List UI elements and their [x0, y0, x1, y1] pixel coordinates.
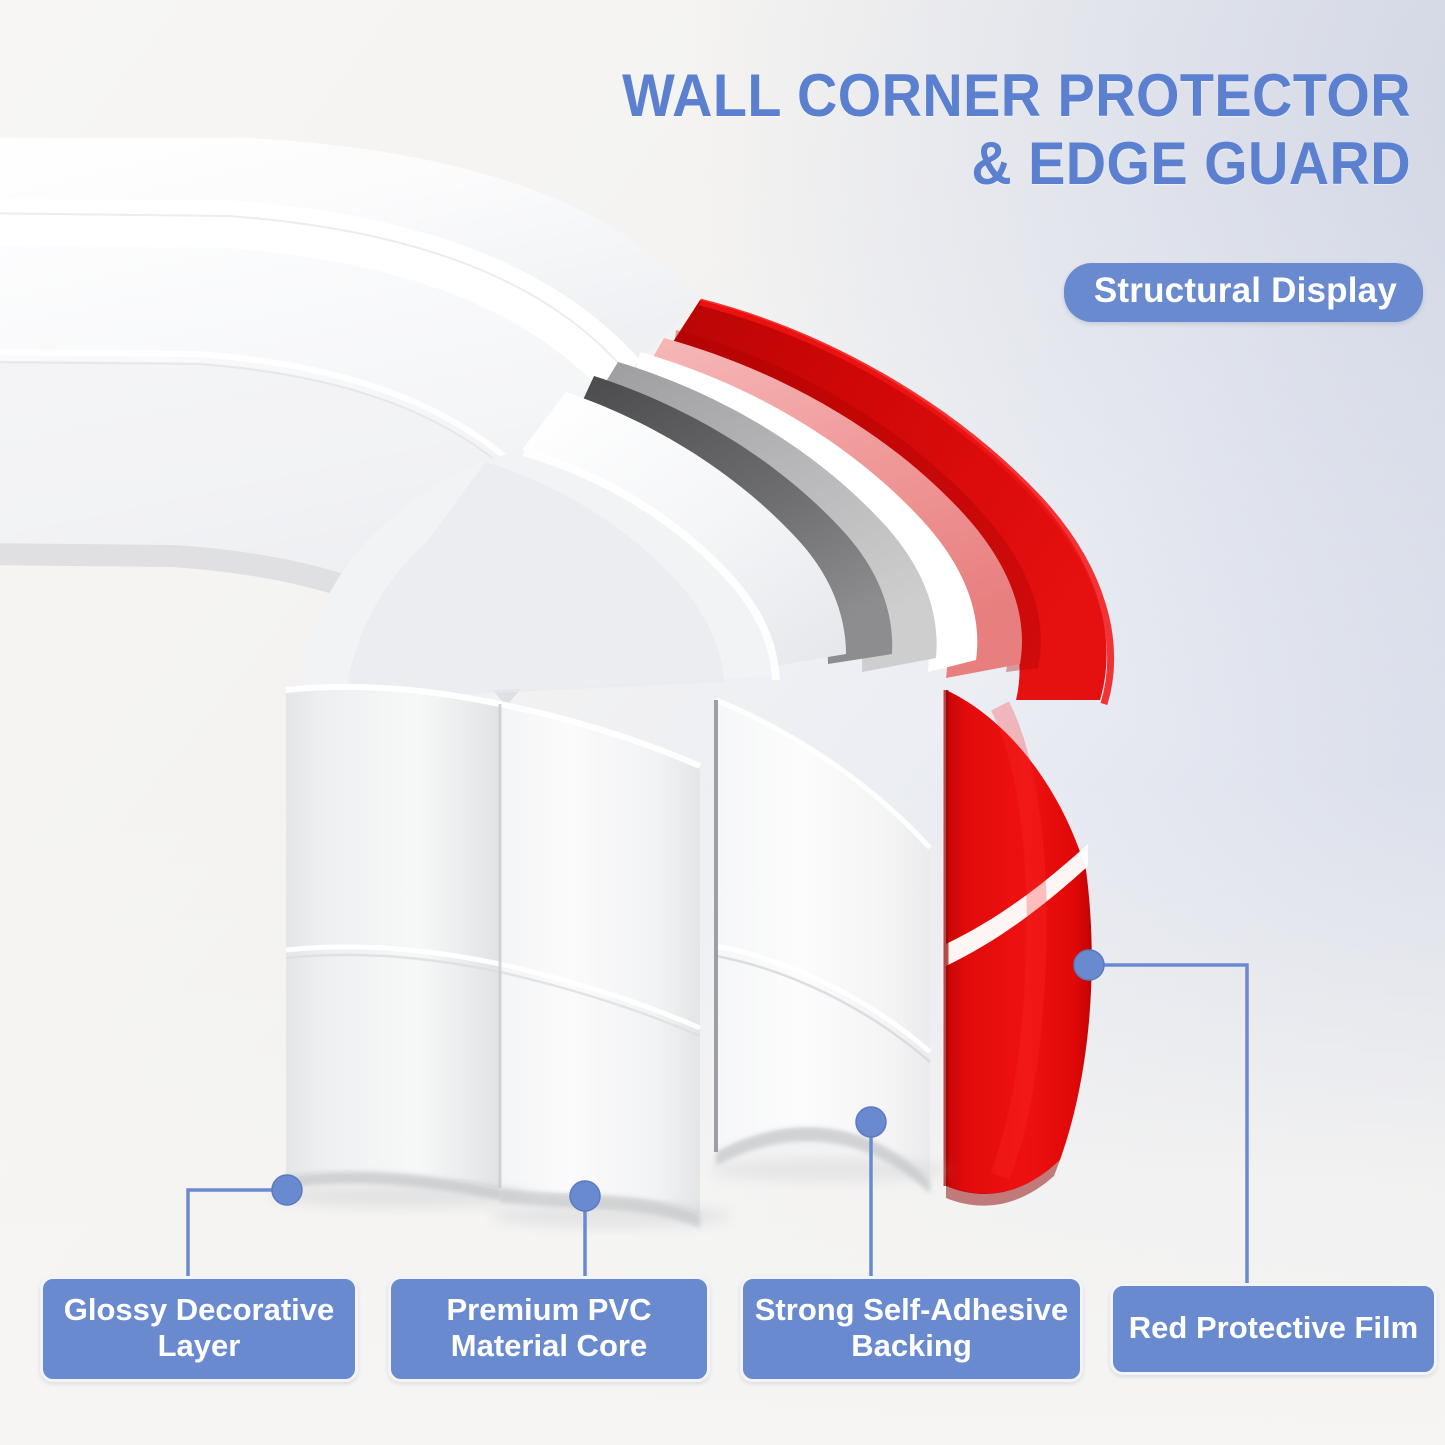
callout-label-line-1: Red Protective Film — [1129, 1310, 1418, 1346]
callout-label-line-2: Backing — [755, 1328, 1069, 1364]
callout-label-line-2: Layer — [64, 1328, 335, 1364]
callout-label-glossy-decorative-layer: Glossy Decorative Layer — [40, 1276, 358, 1382]
callout-label-line-2: Material Core — [446, 1328, 651, 1364]
callout-label-line-1: Premium PVC — [446, 1292, 651, 1328]
callout-label-line-1: Strong Self-Adhesive — [755, 1292, 1069, 1328]
callout-label-group: Glossy Decorative Layer Premium PVC Mate… — [0, 0, 1445, 1445]
callout-label-premium-pvc-material-core: Premium PVC Material Core — [388, 1276, 710, 1382]
infographic-canvas: WALL CORNER PROTECTOR & EDGE GUARD Struc… — [0, 0, 1445, 1445]
callout-label-red-protective-film: Red Protective Film — [1110, 1283, 1437, 1375]
callout-label-strong-self-adhesive-backing: Strong Self-Adhesive Backing — [740, 1276, 1083, 1382]
callout-label-line-1: Glossy Decorative — [64, 1292, 335, 1328]
